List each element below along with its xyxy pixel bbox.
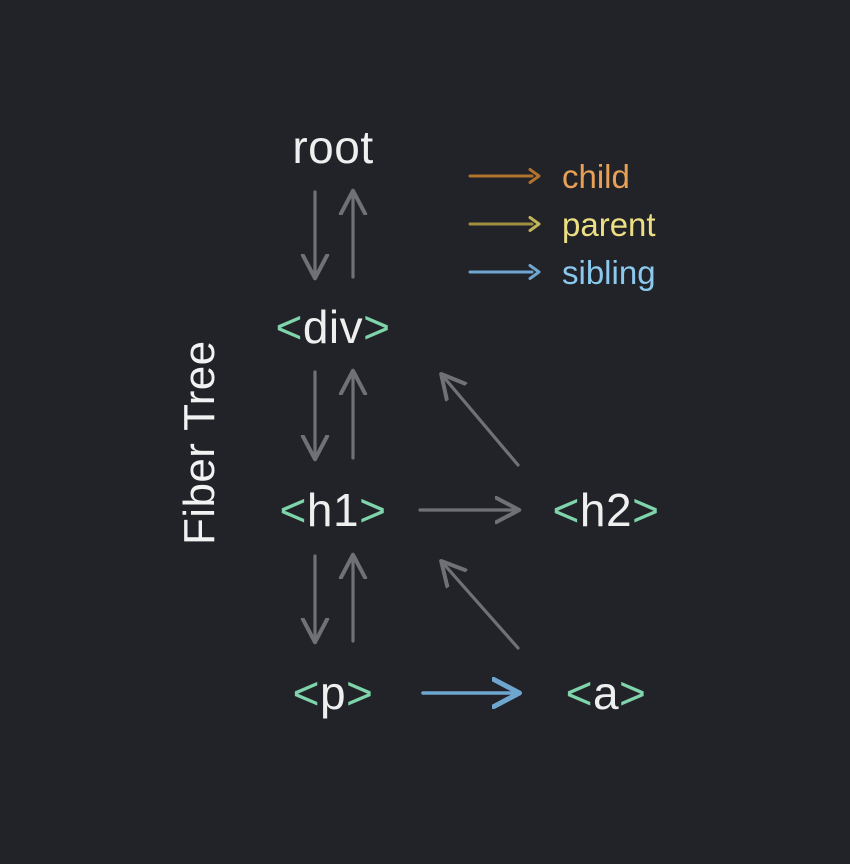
edges-layer: [0, 0, 850, 864]
legend: child parent sibling: [468, 152, 656, 296]
tree-node-p-open-bracket: <: [293, 667, 320, 719]
tree-node-div-close-bracket: >: [363, 301, 390, 353]
legend-item-sibling: sibling: [468, 248, 656, 296]
tree-node-h2-close-bracket: >: [632, 484, 659, 536]
tree-node-p-close-bracket: >: [346, 667, 373, 719]
tree-node-div-open-bracket: <: [275, 301, 302, 353]
tree-node-a-name: a: [593, 667, 619, 719]
arrow-right-icon: [468, 214, 544, 234]
tree-node-root-label: root: [292, 121, 373, 173]
tree-node-h2: <h2>: [553, 487, 660, 533]
tree-node-h2-name: h2: [580, 484, 632, 536]
tree-node-a-close-bracket: >: [619, 667, 646, 719]
arrow-right-icon: [468, 262, 544, 282]
legend-label-parent: parent: [562, 208, 656, 241]
edge-h2-to-div-parent: [442, 375, 518, 465]
diagram-axis-label: Fiber Tree: [175, 245, 225, 545]
tree-node-div: <div>: [275, 304, 390, 350]
tree-node-root: root: [292, 124, 373, 170]
tree-node-div-name: div: [303, 301, 363, 353]
tree-node-p: <p>: [293, 670, 374, 716]
legend-item-parent: parent: [468, 200, 656, 248]
tree-node-h2-open-bracket: <: [553, 484, 580, 536]
legend-label-sibling: sibling: [562, 256, 656, 289]
tree-node-a-open-bracket: <: [566, 667, 593, 719]
arrow-right-icon: [468, 166, 544, 186]
legend-item-child: child: [468, 152, 656, 200]
legend-label-child: child: [562, 160, 630, 193]
tree-node-h1-name: h1: [307, 484, 359, 536]
tree-node-h1: <h1>: [280, 487, 387, 533]
tree-node-h1-open-bracket: <: [280, 484, 307, 536]
edge-a-to-h1-parent: [442, 562, 518, 648]
tree-node-h1-close-bracket: >: [359, 484, 386, 536]
tree-node-p-name: p: [320, 667, 346, 719]
tree-node-a: <a>: [566, 670, 647, 716]
fiber-tree-diagram: Fiber Tree root: [0, 0, 850, 864]
